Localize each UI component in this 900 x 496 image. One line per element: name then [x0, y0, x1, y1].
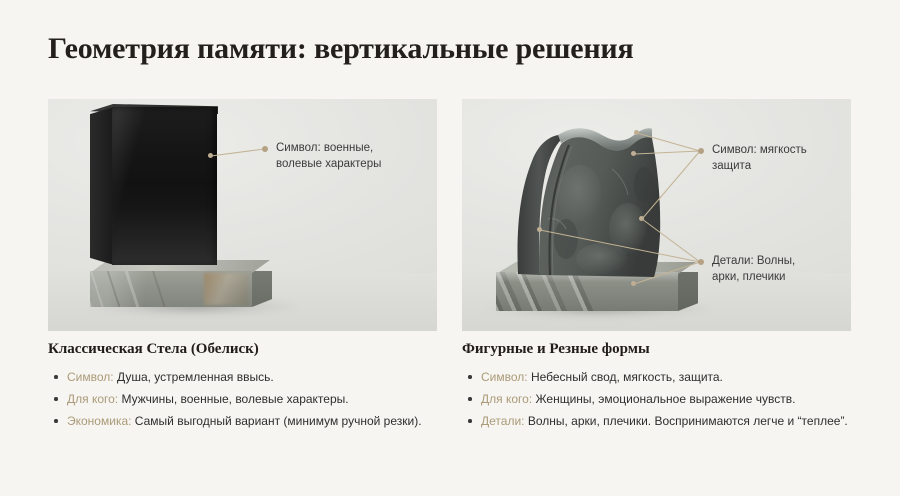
stela-front-face	[112, 107, 217, 265]
caption-column-carved: Фигурные и Резные формы Символ: Небесный…	[462, 341, 862, 435]
bullet-text: Волны, арки, плечики. Воспринимаются лег…	[524, 414, 847, 428]
stela-side-face	[90, 107, 114, 265]
bullet-label: Для кого:	[481, 392, 532, 406]
callout-symbol-military: Символ: военные, волевые характеры	[276, 141, 426, 172]
callout-anchor-dot-middle	[639, 216, 644, 221]
callout-target-dot-symbol	[698, 148, 704, 154]
caption-column-classic: Классическая Стела (Обелиск) Символ: Душ…	[48, 341, 443, 435]
list-item: Экономика: Самый выгодный вариант (миним…	[48, 413, 443, 429]
callout-anchor-dot-lower	[631, 281, 636, 286]
bullet-dot-icon	[54, 419, 58, 423]
callout-details-waves: Детали: Волны, арки, плечики	[712, 254, 851, 285]
column-heading-classic: Классическая Стела (Обелиск)	[48, 341, 443, 358]
list-item: Для кого: Мужчины, военные, волевые хара…	[48, 391, 443, 407]
list-item: Символ: Небесный свод, мягкость, защита.	[462, 369, 862, 385]
carved-stela-body	[462, 99, 851, 331]
bullet-label: Детали:	[481, 414, 524, 428]
list-item: Символ: Душа, устремленная ввысь.	[48, 369, 443, 385]
bullet-list-carved: Символ: Небесный свод, мягкость, защита.…	[462, 369, 862, 429]
callout-symbol-softness: Символ: мягкость защита	[712, 143, 851, 174]
callout-target-dot	[262, 146, 268, 152]
callout-anchor-dot-shoulder	[631, 151, 636, 156]
bullet-text: Самый выгодный вариант (минимум ручной р…	[131, 414, 421, 428]
bullet-label: Символ:	[67, 370, 114, 384]
bullet-label: Экономика:	[67, 414, 131, 428]
image-panel-classic-stela: Символ: военные, волевые характеры	[48, 99, 437, 331]
callout-anchor-dot	[208, 153, 213, 158]
list-item: Для кого: Женщины, эмоциональное выражен…	[462, 391, 862, 407]
bullet-label: Символ:	[481, 370, 528, 384]
bullet-text: Душа, устремленная ввысь.	[114, 370, 274, 384]
bullet-text: Женщины, эмоциональное выражение чувств.	[532, 392, 795, 406]
plinth-front-face	[90, 271, 252, 307]
bullet-list-classic: Символ: Душа, устремленная ввысь. Для ко…	[48, 369, 443, 429]
bullet-text: Мужчины, военные, волевые характеры.	[118, 392, 348, 406]
page-title: Геометрия памяти: вертикальные решения	[48, 32, 634, 66]
bullet-dot-icon	[468, 375, 472, 379]
bullet-dot-icon	[54, 375, 58, 379]
bullet-dot-icon	[468, 397, 472, 401]
callout-target-dot-details	[698, 259, 704, 265]
bullet-text: Небесный свод, мягкость, защита.	[528, 370, 723, 384]
image-panel-carved-form: Символ: мягкость защита Детали: Волны, а…	[462, 99, 851, 331]
bullet-dot-icon	[468, 419, 472, 423]
slide-root: Геометрия памяти: вертикальные решения С…	[0, 0, 900, 496]
callout-anchor-dot-edge	[537, 227, 542, 232]
bullet-dot-icon	[54, 397, 58, 401]
bullet-label: Для кого:	[67, 392, 118, 406]
column-heading-carved: Фигурные и Резные формы	[462, 341, 862, 358]
callout-anchor-dot-crest	[634, 130, 639, 135]
list-item: Детали: Волны, арки, плечики. Воспринима…	[462, 413, 862, 429]
